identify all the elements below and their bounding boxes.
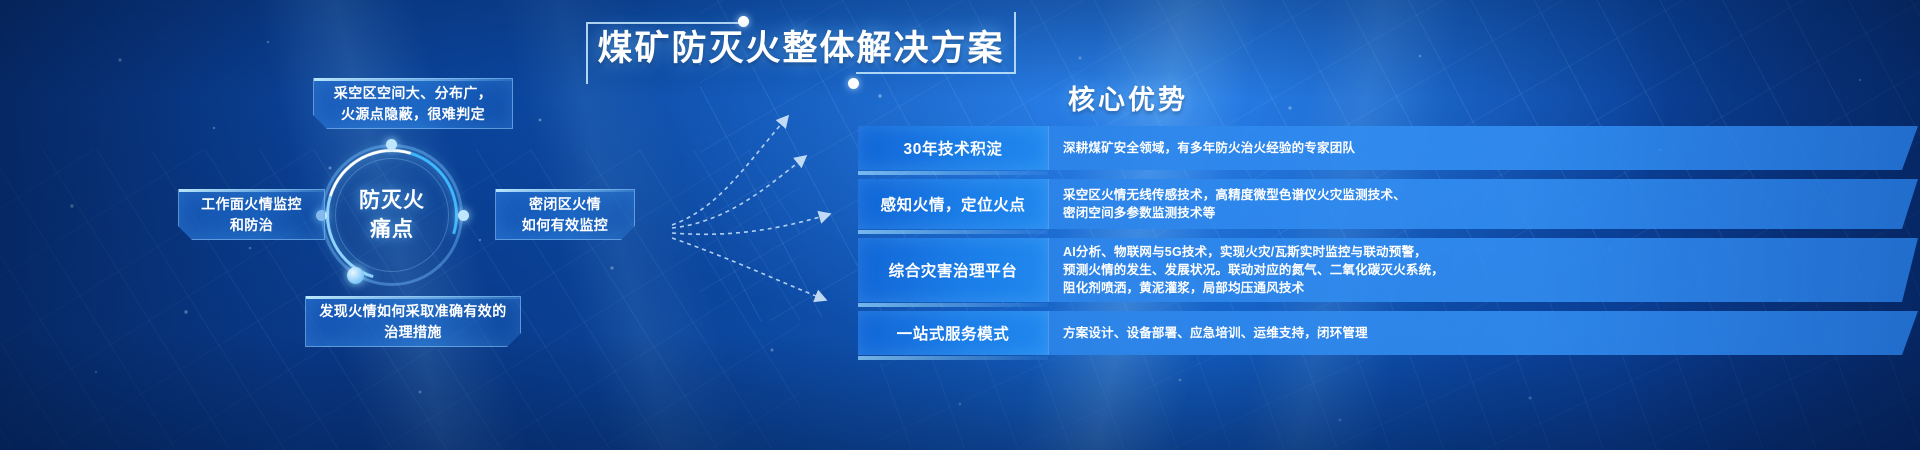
advantage-description: 方案设计、设备部署、应急培训、运维支持，闭环管理 [1048,311,1918,355]
headline-frame: 煤矿防灭火整体解决方案 [586,12,1016,84]
advantage-row[interactable]: 30年技术积淀 深耕煤矿安全领域，有多年防火治火经验的专家团队 [858,126,1918,170]
advantage-row[interactable]: 综合灾害治理平台 AI分析、物联网与5G技术，实现火灾/瓦斯实时监控与联动预警，… [858,238,1918,302]
advantage-title: 感知火情，定位火点 [858,179,1048,229]
advantage-row[interactable]: 一站式服务模式 方案设计、设备部署、应急培训、运维支持，闭环管理 [858,311,1918,355]
advantages-list: 30年技术积淀 深耕煤矿安全领域，有多年防火治火经验的专家团队 感知火情，定位火… [858,126,1918,364]
advantage-description: 深耕煤矿安全领域，有多年防火治火经验的专家团队 [1048,126,1918,170]
advantage-description-text: 方案设计、设备部署、应急培训、运维支持，闭环管理 [1063,324,1368,342]
headline-dot-bottom [848,78,859,89]
pain-point-label: 工作面火情监控 和防治 [201,194,302,236]
advantage-description-text: 采空区火情无线传感技术，高精度微型色谱仪火灾监测技术、 密闭空间多参数监测技术等 [1063,186,1406,222]
banner-stage: 煤矿防灭火整体解决方案 防灭火 痛点 采空区空间大、分布广， 火源点隐蔽，很 [0,0,1920,450]
hub-label-line2: 痛点 [370,215,414,244]
advantage-title: 30年技术积淀 [858,126,1048,170]
pain-point-sealed-zone[interactable]: 密闭区火情 如何有效监控 [495,189,635,240]
pain-point-label: 发现火情如何采取准确有效的 治理措施 [319,301,506,343]
advantage-description: AI分析、物联网与5G技术，实现火灾/瓦斯实时监控与联动预警， 预测火情的发生、… [1048,238,1918,302]
advantage-description-text: 深耕煤矿安全领域，有多年防火治火经验的专家团队 [1063,139,1355,157]
center-hub: 防灭火 痛点 [321,144,463,286]
pain-point-goaf-space[interactable]: 采空区空间大、分布广， 火源点隐蔽，很难判定 [313,78,513,129]
advantage-description-text: AI分析、物联网与5G技术，实现火灾/瓦斯实时监控与联动预警， 预测火情的发生、… [1063,243,1444,297]
pain-point-label: 密闭区火情 如何有效监控 [522,194,608,236]
advantage-description: 采空区火情无线传感技术，高精度微型色谱仪火灾监测技术、 密闭空间多参数监测技术等 [1048,179,1918,229]
advantage-title: 综合灾害治理平台 [858,238,1048,302]
hub-label-line1: 防灭火 [359,186,425,215]
advantage-title: 一站式服务模式 [858,311,1048,355]
advantages-section-title: 核心优势 [1068,78,1328,117]
advantage-row[interactable]: 感知火情，定位火点 采空区火情无线传感技术，高精度微型色谱仪火灾监测技术、 密闭… [858,179,1918,229]
pain-point-response[interactable]: 发现火情如何采取准确有效的 治理措施 [305,296,521,347]
pain-point-working-face[interactable]: 工作面火情监控 和防治 [178,189,325,240]
pain-point-label: 采空区空间大、分布广， 火源点隐蔽，很难判定 [334,83,492,125]
page-title: 煤矿防灭火整体解决方案 [586,26,1016,72]
hub-label: 防灭火 痛点 [321,144,463,286]
